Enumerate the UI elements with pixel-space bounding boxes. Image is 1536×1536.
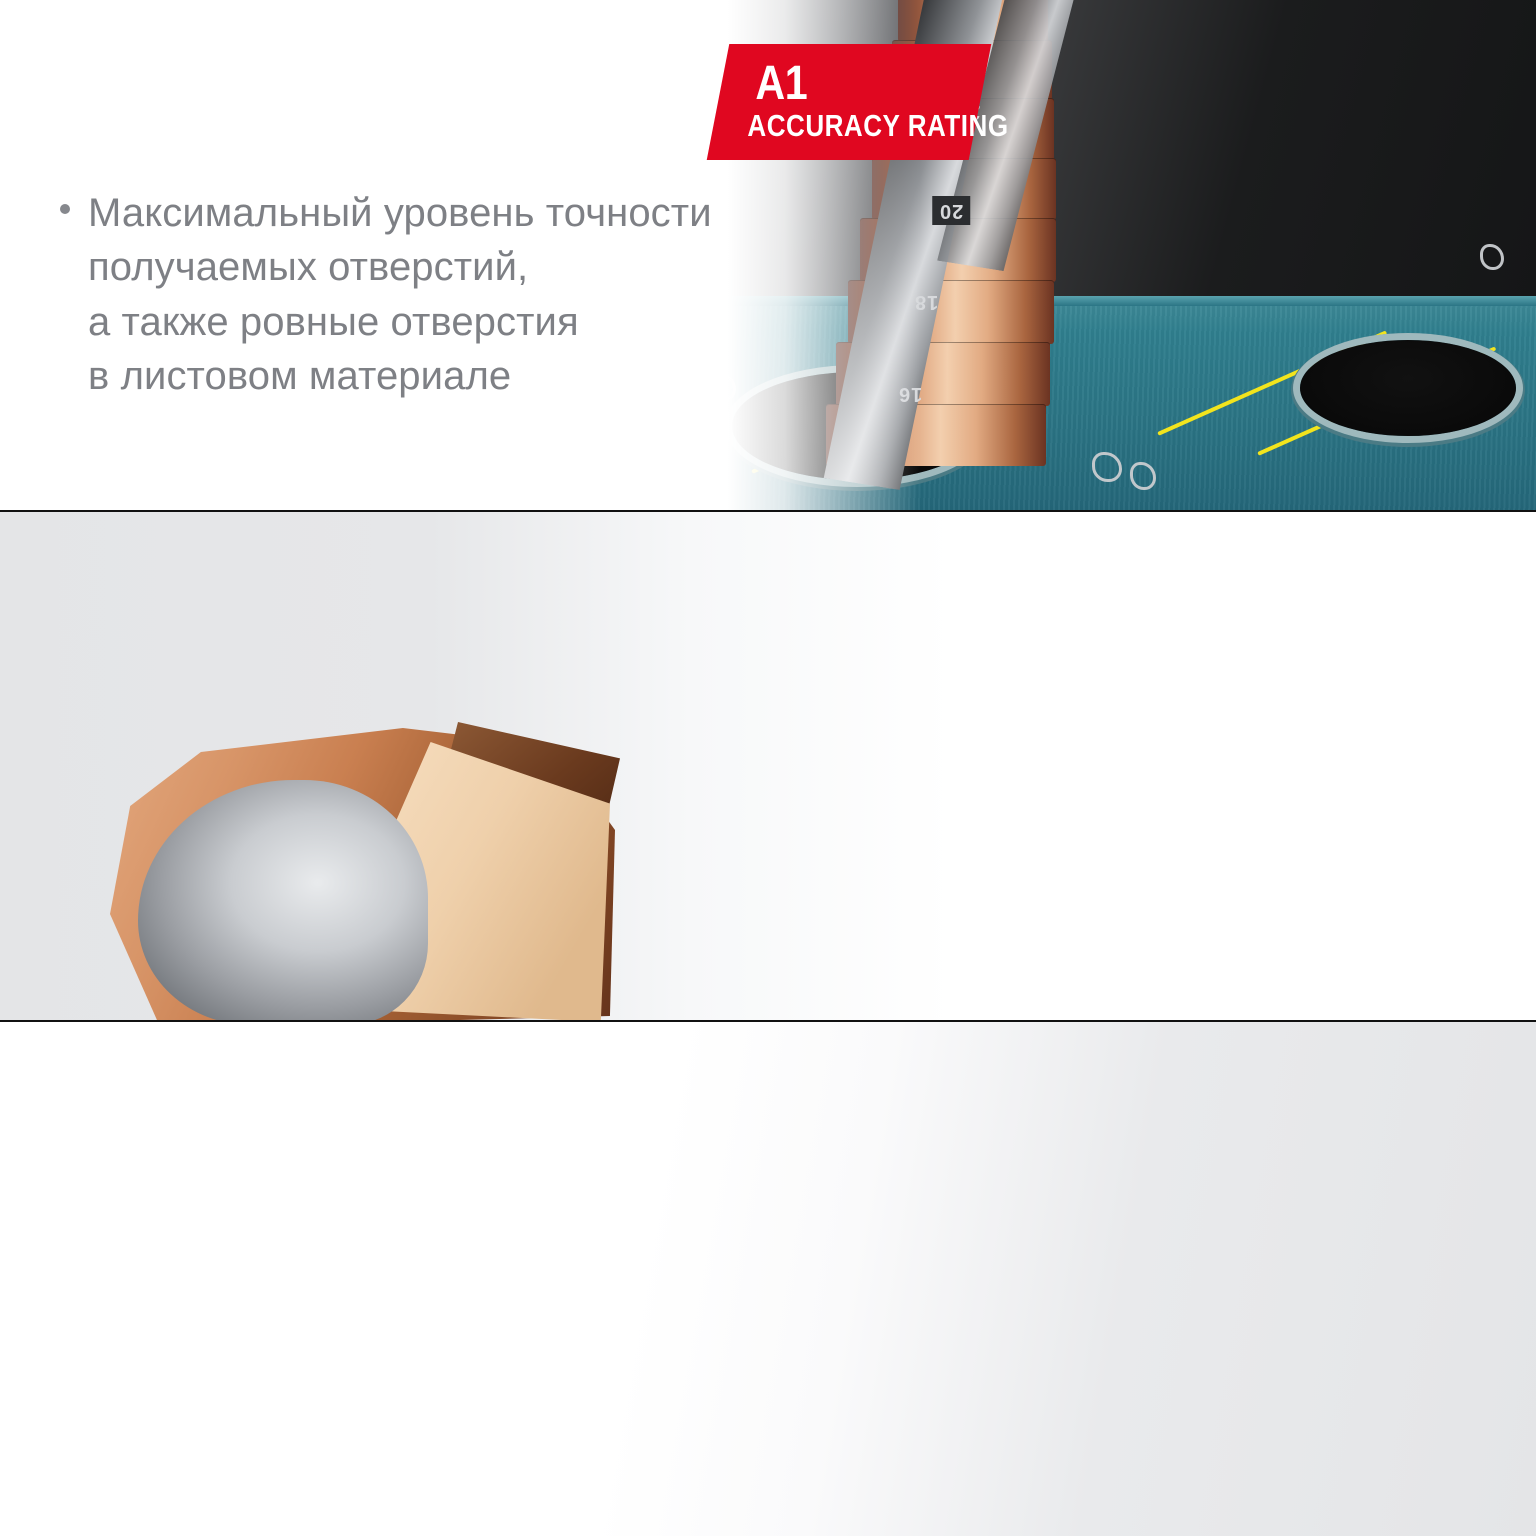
photo-cross-ground-drill-tip xyxy=(80,702,650,1020)
size-mark-20: 20 xyxy=(932,196,970,225)
panel-point-angle: 135° ANGLE ATTHETOP Угол заточки, при ве… xyxy=(0,1022,1536,1536)
bullet-dot xyxy=(60,204,70,214)
metal-chip xyxy=(1480,244,1504,270)
badge-subline: ACCURACY RATING xyxy=(747,109,910,142)
drilled-hole xyxy=(1300,340,1516,436)
metal-chip xyxy=(1130,462,1156,490)
badge-accuracy-rating: A1 ACCURACY RATING xyxy=(707,44,992,160)
badge-headline: A1 xyxy=(755,60,922,109)
infographic-page: 22 20 18 16 A1 ACCURACY RATING Максималь… xyxy=(0,0,1536,1536)
panel-cross-grinding: CROSS-GRINDING Крестообразная подточка п… xyxy=(0,512,1536,1020)
bullet-accuracy: Максимальный уровень точности получаемых… xyxy=(88,186,828,404)
panel-accuracy: 22 20 18 16 A1 ACCURACY RATING Максималь… xyxy=(0,0,1536,510)
